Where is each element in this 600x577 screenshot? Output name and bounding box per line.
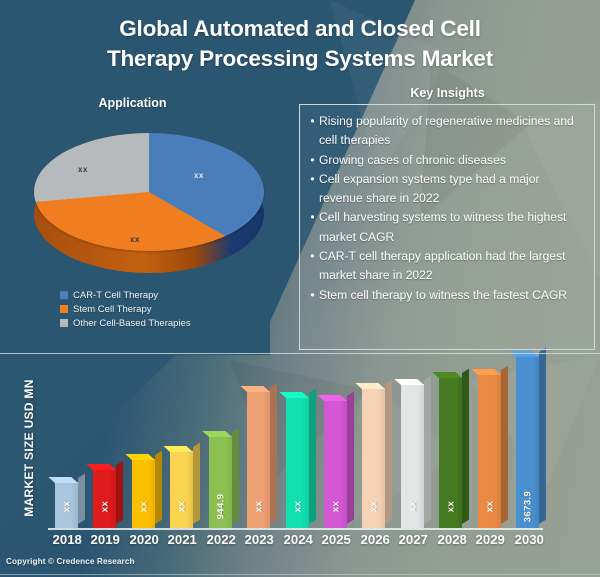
- key-insights-heading: Key Insights: [300, 86, 595, 100]
- bar-2020: xx: [132, 459, 155, 528]
- bar-top-3d: [432, 372, 462, 378]
- bar-side-3d: [385, 380, 392, 524]
- bar-side-3d: [193, 443, 200, 524]
- bar-2029: xx: [478, 374, 501, 528]
- legend-swatch-other: [60, 319, 68, 327]
- key-insight-text: Cell expansion systems type had a major …: [319, 170, 586, 209]
- bar-top-3d: [163, 446, 193, 452]
- x-tick-2021: 2021: [163, 532, 201, 547]
- legend-item-other: Other Cell-Based Therapies: [60, 316, 191, 330]
- x-tick-2024: 2024: [279, 532, 317, 547]
- bar-2025: xx: [324, 400, 347, 528]
- key-insight-item: •Cell expansion systems type had a major…: [306, 170, 586, 209]
- bar-side-3d: [462, 369, 469, 524]
- bar-value-label: xx: [99, 501, 110, 512]
- x-axis-line: [48, 528, 543, 530]
- bar-value-label: xx: [445, 501, 456, 512]
- bullet-icon: •: [306, 170, 319, 209]
- bar-top-3d: [317, 395, 347, 401]
- bar-top-3d: [48, 477, 78, 483]
- key-insight-item: •CAR-T cell therapy application had the …: [306, 247, 586, 286]
- key-insights-box: •Rising popularity of regenerative medic…: [299, 104, 595, 350]
- key-insight-item: •Stem cell therapy to witness the fastes…: [306, 286, 586, 305]
- bar-2019: xx: [93, 469, 116, 528]
- x-tick-2028: 2028: [433, 532, 471, 547]
- bar-2024: xx: [286, 397, 309, 528]
- bullet-icon: •: [306, 247, 319, 286]
- x-tick-2020: 2020: [125, 532, 163, 547]
- x-tick-2026: 2026: [356, 532, 394, 547]
- bar-top-3d: [471, 369, 501, 375]
- bar-value-label: xx: [368, 501, 379, 512]
- x-axis-tick-labels: 2018201920202021202220232024202520262027…: [48, 532, 548, 552]
- bar-2023: xx: [247, 391, 270, 528]
- bar-side-3d: [270, 383, 277, 524]
- legend-label-other: Other Cell-Based Therapies: [73, 318, 191, 329]
- bar-2018: xx: [55, 482, 78, 528]
- bar-top-3d: [86, 464, 116, 470]
- bar-value-label: xx: [61, 501, 72, 512]
- section-divider: [0, 353, 600, 354]
- key-insight-text: Stem cell therapy to witness the fastest…: [319, 286, 567, 305]
- bar-value-label: xx: [407, 501, 418, 512]
- x-tick-2019: 2019: [86, 532, 124, 547]
- bar-top-3d: [240, 386, 270, 392]
- pie-legend: CAR-T Cell Therapy Stem Cell Therapy Oth…: [60, 288, 191, 330]
- bar-face: [93, 469, 116, 528]
- application-heading: Application: [30, 96, 235, 110]
- copyright-text: Copyright © Credence Research: [6, 557, 135, 566]
- bar-side-3d: [78, 474, 85, 524]
- bar-2027: xx: [401, 384, 424, 528]
- pie-top-surface: [34, 133, 264, 251]
- pie-slice-label-stem: xx: [130, 235, 140, 244]
- bar-2021: xx: [170, 451, 193, 528]
- bottom-divider: [0, 574, 600, 575]
- bar-2026: xx: [362, 388, 385, 528]
- bar-2028: xx: [439, 377, 462, 528]
- bar-side-3d: [309, 389, 316, 524]
- bar-top-3d: [279, 392, 309, 398]
- y-axis-label: MARKET SIZE USD MN: [22, 373, 36, 523]
- x-tick-2027: 2027: [394, 532, 432, 547]
- x-tick-2030: 2030: [510, 532, 548, 547]
- legend-item-cart: CAR-T Cell Therapy: [60, 288, 191, 302]
- key-insight-text: Cell harvesting systems to witness the h…: [319, 208, 586, 247]
- bar-value-label: xx: [176, 501, 187, 512]
- key-insight-text: CAR-T cell therapy application had the l…: [319, 247, 586, 286]
- legend-item-stem: Stem Cell Therapy: [60, 302, 191, 316]
- bar-value-label: 3673.9: [522, 491, 533, 522]
- key-insight-item: •Growing cases of chronic diseases: [306, 151, 586, 170]
- pie-graphic: xx xx xx: [34, 133, 264, 263]
- bar-top-3d: [202, 431, 232, 437]
- bar-series: xxxxxxxx944.9xxxxxxxxxxxxxx3673.9: [48, 355, 548, 529]
- bar-side-3d: [501, 366, 508, 524]
- bar-value-label: 944.9: [215, 494, 226, 520]
- infographic-root: Global Automated and Closed Cell Therapy…: [0, 0, 600, 577]
- application-pie-chart: xx xx xx: [26, 125, 276, 285]
- legend-label-cart: CAR-T Cell Therapy: [73, 290, 158, 301]
- x-tick-2018: 2018: [48, 532, 86, 547]
- page-title: Global Automated and Closed Cell Therapy…: [0, 14, 600, 74]
- pie-slice-label-cart: xx: [194, 171, 204, 180]
- bar-top-3d: [355, 383, 385, 389]
- x-tick-2029: 2029: [471, 532, 509, 547]
- bar-face: [170, 451, 193, 528]
- key-insight-text: Growing cases of chronic diseases: [319, 151, 506, 170]
- key-insight-text: Rising popularity of regenerative medici…: [319, 112, 586, 151]
- key-insight-item: •Cell harvesting systems to witness the …: [306, 208, 586, 247]
- key-insight-item: •Rising popularity of regenerative medic…: [306, 112, 586, 151]
- market-size-bar-chart: MARKET SIZE USD MN xxxxxxxx944.9xxxxxxxx…: [0, 355, 600, 577]
- x-tick-2023: 2023: [240, 532, 278, 547]
- bullet-icon: •: [306, 208, 319, 247]
- bar-side-3d: [155, 451, 162, 524]
- title-line-1: Global Automated and Closed Cell: [0, 14, 600, 44]
- bar-value-label: xx: [484, 501, 495, 512]
- bar-side-3d: [347, 392, 354, 524]
- bullet-icon: •: [306, 112, 319, 151]
- bullet-icon: •: [306, 286, 319, 305]
- bar-top-3d: [125, 454, 155, 460]
- legend-swatch-cart: [60, 291, 68, 299]
- bar-side-3d: [116, 461, 123, 524]
- bar-side-3d: [424, 376, 431, 524]
- pie-slice-label-other: xx: [78, 165, 88, 174]
- x-tick-2025: 2025: [317, 532, 355, 547]
- legend-label-stem: Stem Cell Therapy: [73, 304, 152, 315]
- bar-value-label: xx: [138, 501, 149, 512]
- title-line-2: Therapy Processing Systems Market: [0, 44, 600, 74]
- bullet-icon: •: [306, 151, 319, 170]
- bar-value-label: xx: [253, 501, 264, 512]
- bar-value-label: xx: [292, 501, 303, 512]
- bar-top-3d: [394, 379, 424, 385]
- legend-swatch-stem: [60, 305, 68, 313]
- bar-side-3d: [539, 348, 546, 524]
- bar-value-label: xx: [330, 501, 341, 512]
- bar-2030: 3673.9: [516, 356, 539, 528]
- bar-2022: 944.9: [209, 436, 232, 528]
- bar-side-3d: [232, 428, 239, 524]
- bar-face: [132, 459, 155, 528]
- x-tick-2022: 2022: [202, 532, 240, 547]
